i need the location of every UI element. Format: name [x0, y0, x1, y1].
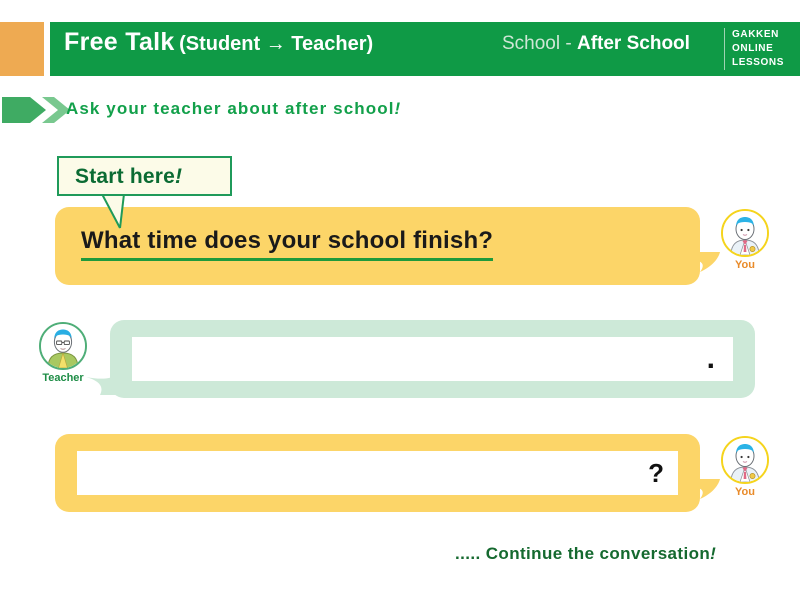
avatar-you-icon	[721, 209, 769, 257]
speech-bubble-teacher-answer: .	[110, 320, 755, 398]
teacher-answer-input[interactable]: .	[132, 337, 733, 381]
start-here-text: Start here	[75, 165, 175, 188]
instruction-text: Ask your teacher about after school!	[66, 100, 401, 117]
page-title: Free Talk (Student → Teacher)	[64, 30, 373, 55]
start-here-exclamation: !	[175, 165, 182, 188]
continue-exclamation: !	[710, 544, 716, 563]
continue-conversation-note: ..... Continue the conversation!	[455, 545, 716, 562]
lesson-topic-category: School -	[502, 33, 577, 54]
worksheet-page: Free Talk (Student → Teacher) School - A…	[0, 0, 800, 600]
instruction-label: Ask your teacher about after school	[66, 99, 395, 118]
question-text: What time does your school finish?	[81, 228, 493, 261]
avatar-you-2: You	[714, 436, 776, 498]
callout-tail-icon	[100, 194, 140, 234]
you-followup-input[interactable]: ?	[77, 451, 678, 495]
page-title-main: Free Talk	[64, 28, 175, 56]
instruction-exclamation: !	[395, 99, 402, 118]
logo-divider	[724, 28, 725, 70]
start-here-callout: Start here!	[57, 156, 232, 196]
lesson-topic: School - After School	[502, 34, 690, 53]
page-title-sub: (Student → Teacher)	[179, 33, 373, 55]
gakken-online-lessons-logo: Gakken Online Lessons	[732, 28, 796, 70]
avatar-label-you-2: You	[714, 487, 776, 498]
continue-text: Continue the conversation	[481, 544, 711, 563]
you-followup-end-mark: ?	[648, 460, 664, 486]
teacher-answer-end-mark: .	[707, 344, 715, 374]
logo-line-online: Online	[732, 42, 796, 56]
lesson-topic-name: After School	[577, 33, 690, 54]
speech-bubble-you-question: What time does your school finish?	[55, 207, 700, 285]
header-orange-accent	[0, 22, 44, 76]
avatar-label-you-1: You	[714, 260, 776, 271]
logo-line-lessons: Lessons	[732, 56, 796, 70]
avatar-teacher: Teacher	[32, 322, 94, 384]
avatar-you-1: You	[714, 209, 776, 271]
avatar-teacher-icon	[39, 322, 87, 370]
chevron-arrows-icon	[2, 96, 74, 124]
avatar-label-teacher: Teacher	[32, 373, 94, 384]
avatar-you-icon-2	[721, 436, 769, 484]
speech-bubble-you-followup: ?	[55, 434, 700, 512]
start-here-label: Start here!	[75, 166, 182, 187]
logo-line-gakken: Gakken	[732, 28, 796, 42]
continue-dots: .....	[455, 544, 481, 563]
